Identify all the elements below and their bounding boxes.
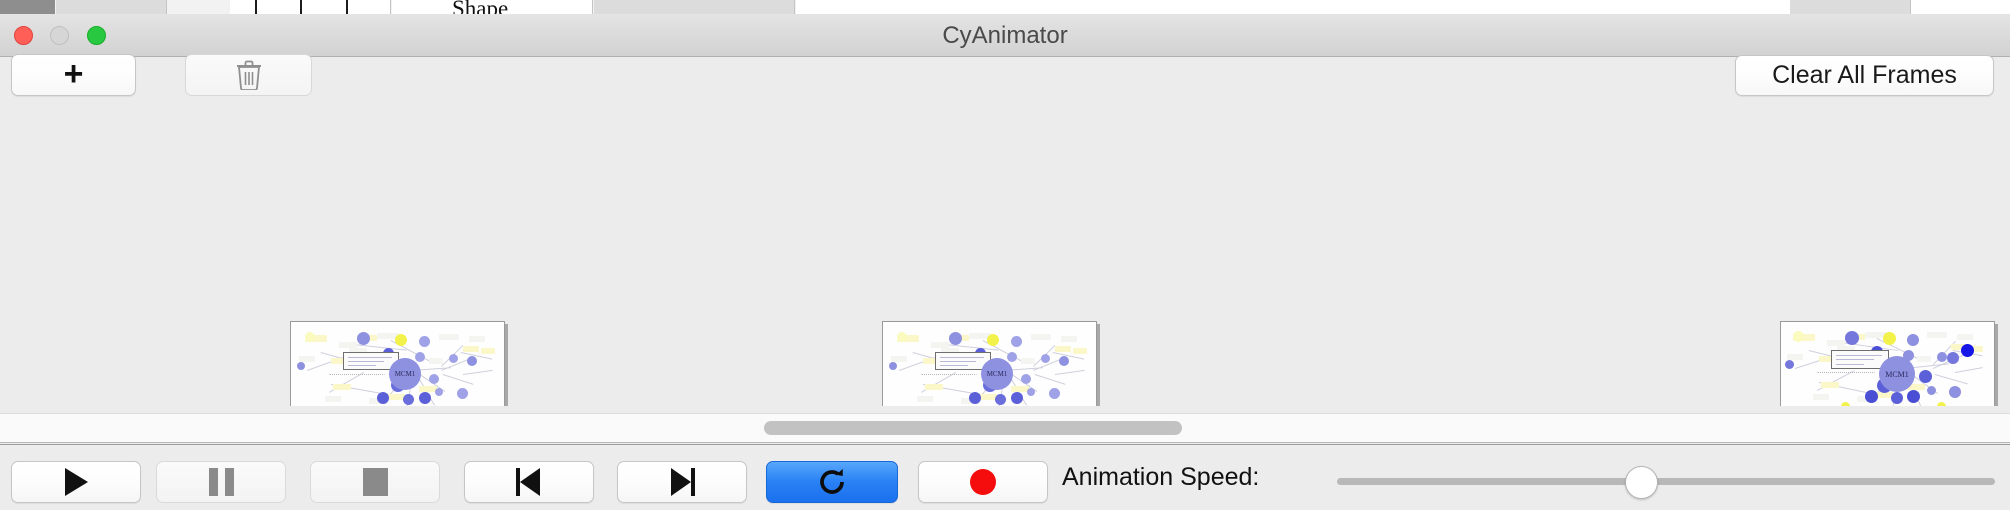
background-strip-cell <box>1790 0 1911 14</box>
cyanimator-window: Shape CyAnimator + Clear All Frames <box>0 0 2010 510</box>
title-bar: CyAnimator <box>0 14 2010 57</box>
frame-thumbnail-1[interactable]: MCM1 <box>290 321 505 406</box>
loop-button[interactable] <box>766 461 898 503</box>
pause-button[interactable] <box>156 461 286 503</box>
loop-icon <box>817 467 847 497</box>
background-strip-cell <box>56 0 167 14</box>
record-button[interactable] <box>918 461 1048 503</box>
skip-back-icon <box>515 468 543 496</box>
trash-icon <box>236 60 262 90</box>
stop-icon <box>363 468 388 496</box>
background-strip-tick <box>255 0 257 14</box>
timeline-scrollbar-thumb[interactable] <box>764 421 1182 435</box>
frame-thumbnail-2[interactable]: MCM1 <box>882 321 1097 406</box>
background-strip-tick <box>346 0 348 14</box>
background-window-strip: Shape <box>0 0 2010 15</box>
delete-frame-button[interactable] <box>185 54 312 96</box>
network-thumbnail-canvas: MCM1 <box>883 322 1096 406</box>
background-strip-dark-cell <box>0 0 55 14</box>
pause-icon <box>209 468 234 496</box>
hub-node: MCM1 <box>1879 356 1915 392</box>
timeline-scrollbar[interactable] <box>0 413 2010 443</box>
animation-speed-slider-thumb[interactable] <box>1625 466 1658 499</box>
hub-node: MCM1 <box>981 358 1013 390</box>
window-title: CyAnimator <box>0 14 2010 57</box>
record-icon <box>970 469 996 495</box>
network-thumbnail-canvas: MCM1 <box>291 322 504 406</box>
play-icon <box>65 468 88 496</box>
skip-to-start-button[interactable] <box>464 461 594 503</box>
add-frame-button[interactable]: + <box>11 54 136 96</box>
plus-icon: + <box>64 57 84 91</box>
stop-button[interactable] <box>310 461 440 503</box>
background-strip-tick <box>300 0 302 14</box>
clear-all-frames-button[interactable]: Clear All Frames <box>1735 55 1994 96</box>
skip-forward-icon <box>668 468 696 496</box>
hub-node: MCM1 <box>389 358 421 390</box>
animation-speed-slider[interactable] <box>1337 478 1995 485</box>
frame-thumbnail-3[interactable]: MCM1 <box>1780 321 1995 406</box>
animation-speed-label: Animation Speed: <box>1062 463 1259 492</box>
background-window-title: Shape <box>452 0 508 15</box>
network-thumbnail-canvas: MCM1 <box>1781 322 1994 406</box>
play-button[interactable] <box>11 461 141 503</box>
background-strip-cell <box>594 0 795 14</box>
timeline-panel[interactable]: MCM1 <box>0 110 2010 406</box>
skip-to-end-button[interactable] <box>617 461 747 503</box>
